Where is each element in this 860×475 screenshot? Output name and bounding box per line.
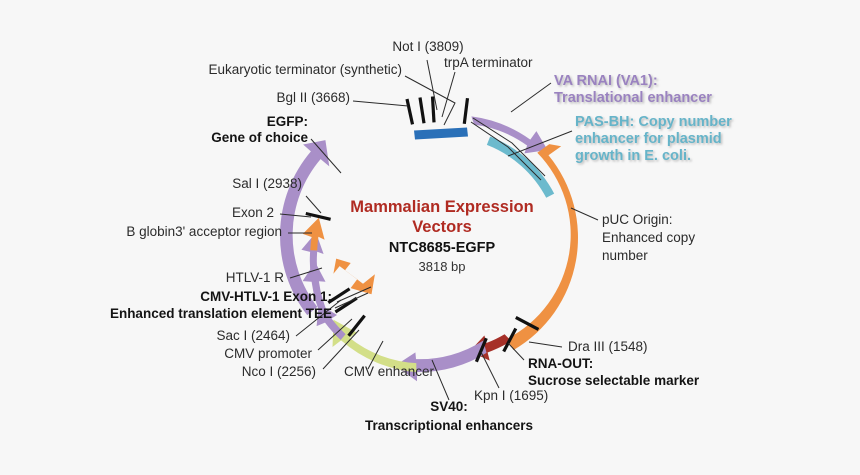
- label-pas-bh-line2: enhancer for plasmid: [575, 130, 835, 148]
- tick-trpa-a[interactable]: [433, 97, 435, 123]
- label-cmv-htlv-line1: CMV-HTLV-1 Exon 1:: [80, 289, 332, 305]
- label-egfp-line2: Gene of choice: [140, 130, 308, 146]
- center-plasmid-size: 3818 bp: [340, 259, 544, 274]
- label-trpa-terminator: trpA terminator: [444, 55, 624, 71]
- center-title-line1: Mammalian Expression: [340, 197, 544, 217]
- label-dra-iii: Dra III (1548): [568, 339, 728, 355]
- label-cmv-promoter: CMV promoter: [142, 346, 312, 362]
- label-sal-i: Sal I (2938): [150, 176, 302, 192]
- label-exon-2: Exon 2: [150, 205, 274, 221]
- label-htlv-1-r: HTLV-1 R: [150, 270, 284, 286]
- label-sv40-line2: Transcriptional enhancers: [330, 418, 568, 434]
- label-sac-i: Sac I (2464): [148, 328, 290, 344]
- label-va-rnai-line2: Translational enhancer: [554, 89, 804, 107]
- label-va-rnai-line1: VA RNAI (VA1):: [554, 72, 804, 90]
- label-b-globin: B globin3' acceptor region: [60, 224, 282, 240]
- center-plasmid-name: NTC8685-EGFP: [340, 240, 544, 257]
- label-puc-line2: Enhanced copy: [602, 230, 792, 246]
- label-puc-line3: number: [602, 248, 792, 264]
- label-egfp-line1: EGFP:: [140, 114, 308, 130]
- label-rna-out-line2: Sucrose selectable marker: [528, 373, 768, 389]
- label-pas-bh-line3: growth in E. coli.: [575, 147, 835, 165]
- label-eukaryotic-terminator: Eukaryotic terminator (synthetic): [120, 62, 402, 78]
- label-bgl-ii: Bgl II (3668): [170, 90, 350, 106]
- label-rna-out-line1: RNA-OUT:: [528, 356, 758, 372]
- label-not-i: Not I (3809): [358, 39, 498, 55]
- label-cmv-enhancer: CMV enhancer: [344, 364, 504, 380]
- label-nco-i: Nco I (2256): [150, 364, 316, 380]
- center-title-line2: Vectors: [340, 217, 544, 237]
- label-puc-line1: pUC Origin:: [602, 212, 792, 228]
- label-kpn-i: Kpn I (1695): [474, 388, 634, 404]
- label-cmv-htlv-line2: Enhanced translation element TEE: [58, 306, 332, 322]
- label-pas-bh-line1: PAS-BH: Copy number: [575, 113, 835, 131]
